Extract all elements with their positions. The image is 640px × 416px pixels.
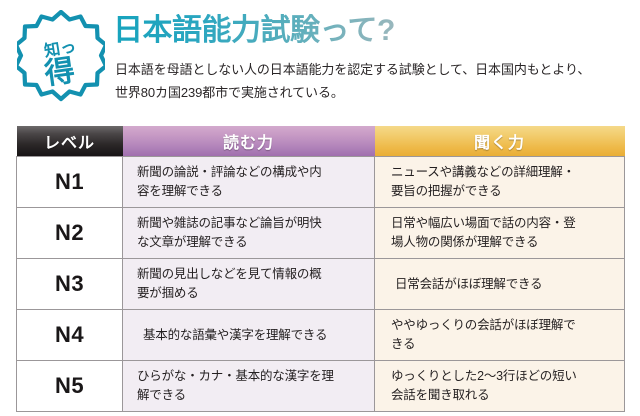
- level-cell: N1: [17, 157, 123, 208]
- page-title: 日本語能力試験って?: [113, 14, 395, 48]
- subtitle-line-1: 日本語を母語としない人の日本語能力を認定する試験として、日本国内もとより、: [115, 58, 635, 81]
- reading-text: 新聞や雑誌の記事など論旨が明快 な文章が理解できる: [123, 214, 374, 252]
- reading-cell: 新聞や雑誌の記事など論旨が明快 な文章が理解できる: [123, 208, 375, 259]
- reading-text: ひらがな・カナ・基本的な漢字を理 解できる: [123, 367, 374, 405]
- table-row: N2 新聞や雑誌の記事など論旨が明快 な文章が理解できる 日常や幅広い場面で話の…: [17, 208, 625, 259]
- reading-line-1: 新聞の見出しなどを見て情報の概: [137, 267, 322, 281]
- reading-text: 新聞の見出しなどを見て情報の概 要が掴める: [123, 265, 374, 303]
- listening-line-2: 要旨の把握ができる: [391, 184, 501, 198]
- column-header-reading: 読む力: [123, 126, 375, 157]
- listening-text: ゆっくりとした2～3行ほどの短い 会話を聞き取れる: [375, 367, 624, 405]
- listening-cell: ややゆっくりの会話がほぼ理解で きる: [375, 310, 625, 361]
- reading-line-1: 新聞の論説・評論などの構成や内: [137, 165, 322, 179]
- table-row: N4 基本的な語彙や漢字を理解できる ややゆっくりの会話がほぼ理解で きる: [17, 310, 625, 361]
- jlpt-level-table: レベル 読む力 聞く力 N1 新聞の論説・評論などの構成や内 容を理解できる ニ…: [16, 126, 625, 412]
- listening-line-2: 会話を聞き取れる: [391, 388, 489, 402]
- subtitle-text: 日本語を母語としない人の日本語能力を認定する試験として、日本国内もとより、 世界…: [115, 58, 635, 104]
- level-cell: N2: [17, 208, 123, 259]
- level-cell: N5: [17, 361, 123, 412]
- reading-line-2: 容を理解できる: [137, 184, 223, 198]
- reading-line-2: な文章が理解できる: [137, 235, 247, 249]
- reading-text: 基本的な語彙や漢字を理解できる: [123, 326, 374, 345]
- reading-line-2: 要が掴める: [137, 286, 199, 300]
- table-row: N5 ひらがな・カナ・基本的な漢字を理 解できる ゆっくりとした2～3行ほどの短…: [17, 361, 625, 412]
- reading-cell: 新聞の論説・評論などの構成や内 容を理解できる: [123, 157, 375, 208]
- column-header-level: レベル: [17, 126, 123, 157]
- header-block: 知っ 得 日本語能力試験って? 日本語を母語としない人の日本語能力を認定する試験…: [0, 0, 640, 118]
- reading-cell: 新聞の見出しなどを見て情報の概 要が掴める: [123, 259, 375, 310]
- reading-line-1: 新聞や雑誌の記事など論旨が明快: [137, 216, 322, 230]
- listening-text: 日常や幅広い場面で話の内容・登 場人物の関係が理解できる: [375, 214, 624, 252]
- listening-text: ややゆっくりの会話がほぼ理解で きる: [375, 316, 624, 354]
- level-cell: N3: [17, 259, 123, 310]
- table-header-row: レベル 読む力 聞く力: [17, 126, 625, 157]
- listening-line-1: 日常や幅広い場面で話の内容・登: [391, 216, 576, 230]
- reading-line-1: ひらがな・カナ・基本的な漢字を理: [137, 369, 334, 383]
- listening-line-1: ゆっくりとした2～3行ほどの短い: [391, 369, 577, 383]
- listening-line-1: ニュースや講義などの詳細理解・: [391, 165, 575, 179]
- listening-text: 日常会話がほぼ理解できる: [375, 275, 624, 294]
- listening-line-2: きる: [391, 337, 415, 351]
- listening-cell: ニュースや講義などの詳細理解・ 要旨の把握ができる: [375, 157, 625, 208]
- listening-cell: 日常会話がほぼ理解できる: [375, 259, 625, 310]
- subtitle-line-2: 世界80カ国239都市で実施されている。: [115, 81, 635, 104]
- listening-text: ニュースや講義などの詳細理解・ 要旨の把握ができる: [375, 163, 624, 201]
- starburst-icon: 知っ 得: [17, 10, 105, 102]
- level-cell: N4: [17, 310, 123, 361]
- reading-cell: 基本的な語彙や漢字を理解できる: [123, 310, 375, 361]
- listening-cell: ゆっくりとした2～3行ほどの短い 会話を聞き取れる: [375, 361, 625, 412]
- column-header-listening: 聞く力: [375, 126, 625, 157]
- listening-line-2: 場人物の関係が理解できる: [391, 235, 538, 249]
- reading-line-2: 解できる: [137, 388, 186, 402]
- listening-line-1: ややゆっくりの会話がほぼ理解で: [391, 318, 576, 332]
- badge-large-text: 得: [41, 53, 77, 92]
- reading-text: 新聞の論説・評論などの構成や内 容を理解できる: [123, 163, 374, 201]
- reading-cell: ひらがな・カナ・基本的な漢字を理 解できる: [123, 361, 375, 412]
- listening-cell: 日常や幅広い場面で話の内容・登 場人物の関係が理解できる: [375, 208, 625, 259]
- starburst-seal-badge: 知っ 得: [17, 10, 105, 102]
- table-row: N1 新聞の論説・評論などの構成や内 容を理解できる ニュースや講義などの詳細理…: [17, 157, 625, 208]
- table-row: N3 新聞の見出しなどを見て情報の概 要が掴める 日常会話がほぼ理解できる: [17, 259, 625, 310]
